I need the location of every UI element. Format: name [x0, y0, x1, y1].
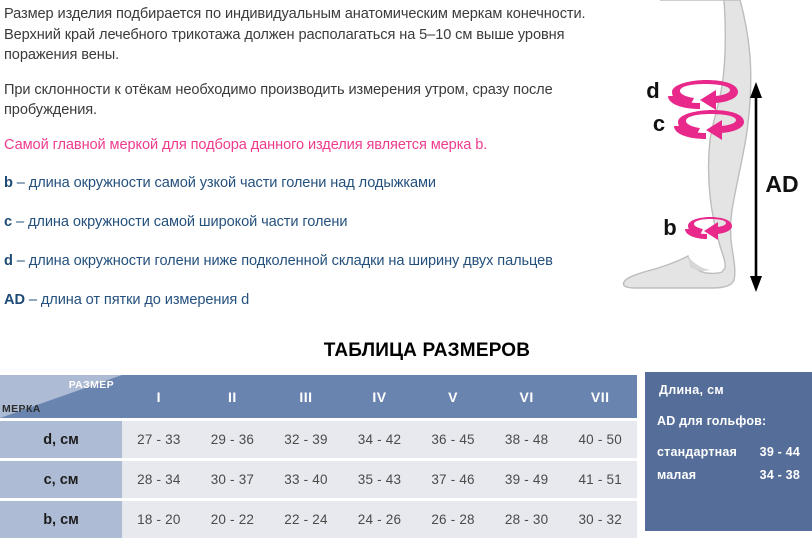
measurement-text-ad: длина от пятки до измерения d: [41, 292, 249, 308]
table-row: b, см 18 - 20 20 - 22 22 - 24 24 - 26 26…: [0, 501, 637, 538]
cell-b-6: 28 - 30: [490, 501, 564, 538]
ad-dimension-arrow-icon: [750, 82, 762, 292]
measurement-dash-c: –: [16, 214, 24, 230]
cell-c-1: 28 - 34: [122, 461, 196, 498]
row-label-d: d, см: [0, 421, 122, 458]
cell-b-7: 30 - 32: [563, 501, 637, 538]
measurement-dash-d: –: [17, 253, 25, 269]
measurement-text-c: длина окружности самой широкой части гол…: [28, 214, 347, 230]
cell-d-3: 32 - 39: [269, 421, 343, 458]
measurement-dash-b: –: [17, 175, 25, 191]
size-column-header-1: I: [122, 375, 196, 418]
leg-diagram-svg: d c b AD: [600, 0, 812, 330]
measurement-definition-b: b – длина окружности самой узкой части г…: [4, 173, 604, 194]
cell-c-3: 33 - 40: [269, 461, 343, 498]
intro-paragraph-2: При склонности к отёкам необходимо произ…: [4, 80, 604, 121]
length-panel-subtitle: AD для гольфов:: [657, 414, 802, 428]
diagram-label-d: d: [646, 78, 659, 103]
measurement-key-ad: AD: [4, 292, 25, 308]
length-panel-title: Длина, см: [659, 383, 802, 397]
size-table-header-row: РАЗМЕР МЕРКА I II III IV V VI VII: [0, 375, 637, 418]
cell-d-7: 40 - 50: [563, 421, 637, 458]
cell-b-4: 24 - 26: [343, 501, 417, 538]
cell-d-5: 36 - 45: [416, 421, 490, 458]
size-table-corner-cell: РАЗМЕР МЕРКА: [0, 375, 122, 418]
measurement-key-d: d: [4, 253, 13, 269]
size-column-header-3: III: [269, 375, 343, 418]
corner-label-size: РАЗМЕР: [69, 379, 114, 391]
cell-c-6: 39 - 49: [490, 461, 564, 498]
cell-b-2: 20 - 22: [196, 501, 270, 538]
diagram-label-ad: AD: [765, 171, 798, 197]
size-column-header-4: IV: [343, 375, 417, 418]
measurement-text-b: длина окружности самой узкой части голен…: [29, 175, 436, 191]
measurement-definition-c: c – длина окружности самой широкой части…: [4, 212, 604, 233]
intro-paragraph-1: Размер изделия подбирается по индивидуал…: [4, 4, 604, 66]
measurement-dash-ad: –: [29, 292, 37, 308]
size-table: РАЗМЕР МЕРКА I II III IV V VI VII d, см …: [0, 372, 637, 541]
measurement-key-c: c: [4, 214, 12, 230]
length-panel-value-standard: 39 - 44: [760, 445, 802, 459]
measurement-definition-d: d – длина окружности голени ниже подколе…: [4, 251, 604, 272]
cell-c-7: 41 - 51: [563, 461, 637, 498]
length-panel-row-small: малая 34 - 38: [657, 468, 802, 482]
cell-c-5: 37 - 46: [416, 461, 490, 498]
cell-d-6: 38 - 48: [490, 421, 564, 458]
table-row: c, см 28 - 34 30 - 37 33 - 40 35 - 43 37…: [0, 461, 637, 498]
row-label-b: b, см: [0, 501, 122, 538]
row-label-c: c, см: [0, 461, 122, 498]
length-panel-row-standard: стандартная 39 - 44: [657, 445, 802, 459]
corner-label-measure: МЕРКА: [2, 403, 41, 415]
size-column-header-7: VII: [563, 375, 637, 418]
size-table-title-text: ТАБЛИЦА РАЗМЕРОВ: [282, 340, 530, 362]
cell-c-2: 30 - 37: [196, 461, 270, 498]
length-info-panel: Длина, см AD для гольфов: стандартная 39…: [645, 372, 812, 531]
size-column-header-5: V: [416, 375, 490, 418]
leg-silhouette-icon: [624, 0, 751, 288]
length-panel-label-small: малая: [657, 468, 696, 482]
cell-d-1: 27 - 33: [122, 421, 196, 458]
table-row: d, см 27 - 33 29 - 36 32 - 39 34 - 42 36…: [0, 421, 637, 458]
leg-measurement-diagram: d c b AD: [600, 0, 812, 330]
diagram-label-c: c: [653, 111, 665, 136]
cell-b-3: 22 - 24: [269, 501, 343, 538]
measurement-definition-ad: AD – длина от пятки до измерения d: [4, 290, 604, 311]
highlight-note: Самой главной меркой для подбора данного…: [4, 135, 604, 155]
cell-d-4: 34 - 42: [343, 421, 417, 458]
cell-b-1: 18 - 20: [122, 501, 196, 538]
size-column-header-2: II: [196, 375, 270, 418]
cell-c-4: 35 - 43: [343, 461, 417, 498]
instructions-text-block: Размер изделия подбирается по индивидуал…: [4, 4, 604, 329]
length-panel-value-small: 34 - 38: [760, 468, 802, 482]
size-table-title: ТАБЛИЦА РАЗМЕРОВ: [0, 340, 812, 362]
measurement-key-b: b: [4, 175, 13, 191]
measurement-text-d: длина окружности голени ниже подколенной…: [29, 253, 553, 269]
cell-d-2: 29 - 36: [196, 421, 270, 458]
size-column-header-6: VI: [490, 375, 564, 418]
cell-b-5: 26 - 28: [416, 501, 490, 538]
length-panel-label-standard: стандартная: [657, 445, 737, 459]
diagram-label-b: b: [663, 215, 676, 240]
